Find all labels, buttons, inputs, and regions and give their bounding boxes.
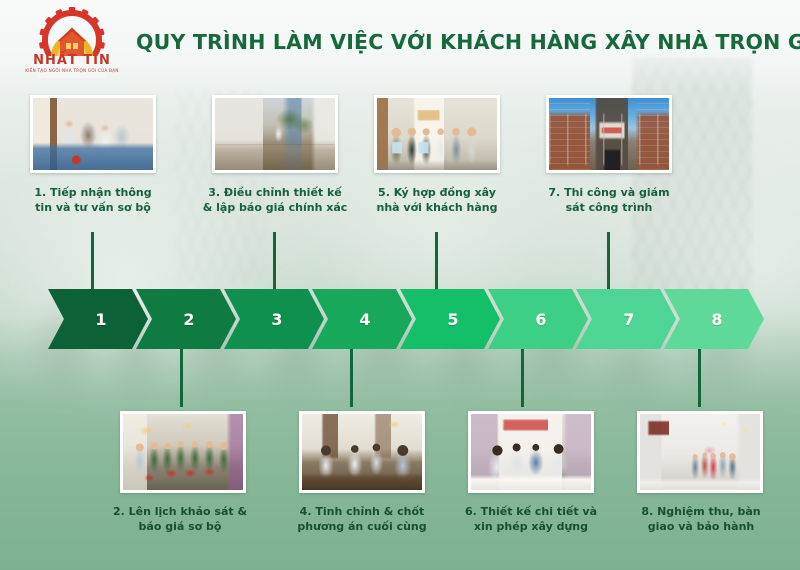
connector-step-5 [435, 232, 438, 289]
chevron-step-4[interactable]: 4 [312, 289, 412, 349]
caption-step-5: 5. Ký hợp đồng xây nhà với khách hàng [362, 186, 512, 216]
connector-step-1 [91, 232, 94, 289]
logo-tagline-text: KIẾN TẠO NGÔI NHÀ TRỌN GÓI CỦA BẠN [25, 67, 119, 73]
process-chevron-band: 1 2 3 4 5 6 7 8 [48, 289, 752, 349]
chevron-step-2-number: 2 [183, 310, 194, 329]
caption-step-7: 7. Thi công và giám sát công trình [534, 186, 684, 216]
caption-step-8: 8. Nghiệm thu, bàn giao và bảo hành [626, 505, 776, 535]
caption-step-4-line1: 4. Tinh chỉnh & chốt [287, 505, 437, 520]
chevron-step-1[interactable]: 1 [48, 289, 148, 349]
connector-step-4 [350, 349, 353, 407]
caption-step-4-line2: phương án cuối cùng [287, 520, 437, 535]
caption-step-5-line1: 5. Ký hợp đồng xây [362, 186, 512, 201]
caption-step-3: 3. Điều chỉnh thiết kế & lập báo giá chí… [200, 186, 350, 216]
photo-step-3-design-adjust[interactable] [212, 95, 338, 173]
photo-step-2-site-survey[interactable] [120, 411, 246, 493]
caption-step-6: 6. Thiết kế chi tiết và xin phép xây dựn… [456, 505, 606, 535]
chevron-step-6-number: 6 [535, 310, 546, 329]
photo-step-8-handover[interactable] [637, 411, 763, 493]
chevron-step-8-number: 8 [711, 310, 722, 329]
logo-brand-text: NHẤT TÍN [33, 50, 111, 68]
chevron-step-5[interactable]: 5 [400, 289, 500, 349]
caption-step-2-line1: 2. Lên lịch khảo sát & [105, 505, 255, 520]
caption-step-1-line2: tin và tư vấn sơ bộ [18, 201, 168, 216]
caption-step-8-line2: giao và bảo hành [626, 520, 776, 535]
connector-step-6 [521, 349, 524, 407]
connector-step-7 [607, 232, 610, 289]
connector-step-3 [273, 232, 276, 289]
photo-step-1-consultation[interactable] [30, 95, 156, 173]
steps-container: 1. Tiếp nhận thông tin và tư vấn sơ bộ 3… [0, 0, 800, 570]
caption-step-2: 2. Lên lịch khảo sát & báo giá sơ bộ [105, 505, 255, 535]
chevron-step-4-number: 4 [359, 310, 370, 329]
caption-step-1: 1. Tiếp nhận thông tin và tư vấn sơ bộ [18, 186, 168, 216]
chevron-step-7-number: 7 [623, 310, 634, 329]
logo-gear-house-icon: NHẤT TÍN KIẾN TẠO NGÔI NHÀ TRỌN GÓI CỦA … [22, 6, 122, 78]
caption-step-1-line1: 1. Tiếp nhận thông [18, 186, 168, 201]
photo-step-4-final-plan[interactable] [299, 411, 425, 493]
chevron-step-5-number: 5 [447, 310, 458, 329]
caption-step-5-line2: nhà với khách hàng [362, 201, 512, 216]
caption-step-4: 4. Tinh chỉnh & chốt phương án cuối cùng [287, 505, 437, 535]
chevron-step-6[interactable]: 6 [488, 289, 588, 349]
chevron-step-7[interactable]: 7 [576, 289, 676, 349]
photo-step-7-construction[interactable] [546, 95, 672, 173]
chevron-step-1-number: 1 [95, 310, 106, 329]
chevron-step-3-number: 3 [271, 310, 282, 329]
photo-step-5-contract-signing[interactable] [374, 95, 500, 173]
caption-step-6-line1: 6. Thiết kế chi tiết và [456, 505, 606, 520]
caption-step-8-line1: 8. Nghiệm thu, bàn [626, 505, 776, 520]
chevron-step-8[interactable]: 8 [664, 289, 764, 349]
caption-step-7-line1: 7. Thi công và giám [534, 186, 684, 201]
photo-step-6-detailed-design[interactable] [468, 411, 594, 493]
caption-step-6-line2: xin phép xây dựng [456, 520, 606, 535]
page-title: QUY TRÌNH LÀM VIỆC VỚI KHÁCH HÀNG XÂY NH… [136, 30, 800, 54]
caption-step-7-line2: sát công trình [534, 201, 684, 216]
caption-step-3-line2: & lập báo giá chính xác [200, 201, 350, 216]
caption-step-3-line1: 3. Điều chỉnh thiết kế [200, 186, 350, 201]
connector-step-2 [180, 349, 183, 407]
chevron-step-2[interactable]: 2 [136, 289, 236, 349]
caption-step-2-line2: báo giá sơ bộ [105, 520, 255, 535]
header: NHẤT TÍN KIẾN TẠO NGÔI NHÀ TRỌN GÓI CỦA … [0, 0, 800, 84]
nhat-tin-logo: NHẤT TÍN KIẾN TẠO NGÔI NHÀ TRỌN GÓI CỦA … [22, 6, 122, 78]
connector-step-8 [698, 349, 701, 407]
chevron-step-3[interactable]: 3 [224, 289, 324, 349]
